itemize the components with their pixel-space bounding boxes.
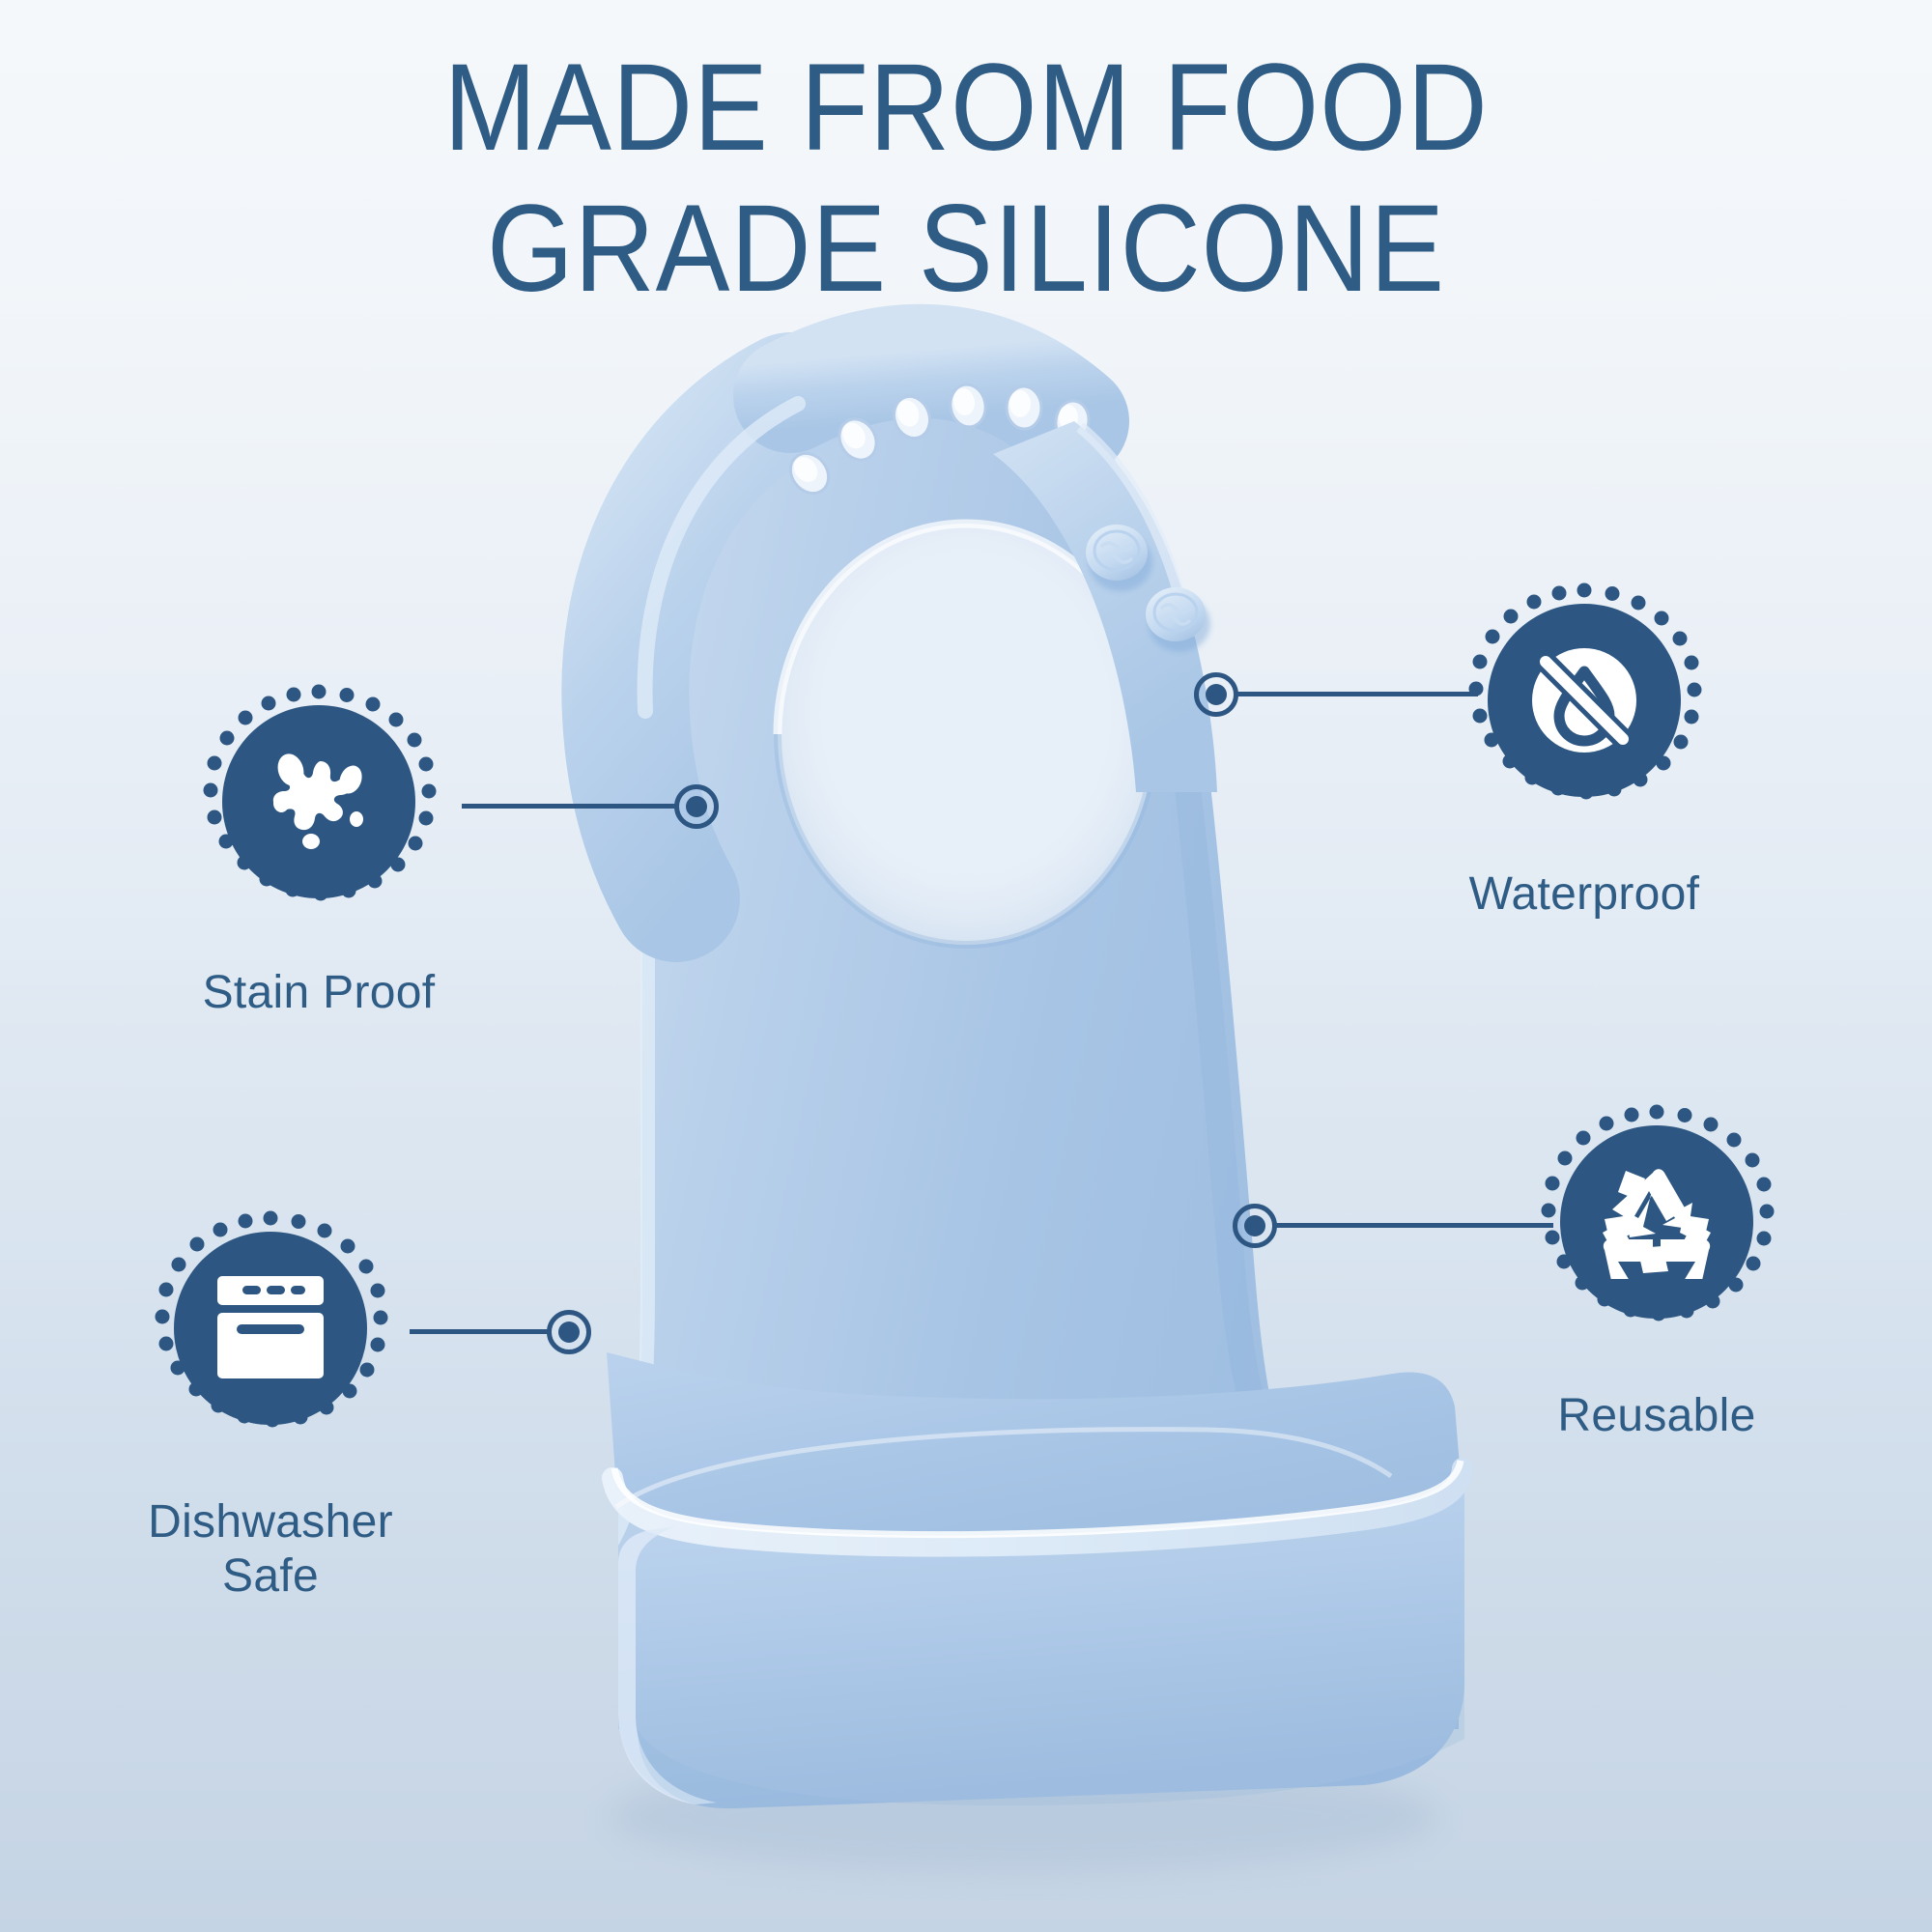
snap-button-lower	[1146, 587, 1210, 652]
feature-badge-reusable[interactable]	[1536, 1101, 1777, 1343]
pocket-rim-highlight	[614, 1461, 1461, 1535]
feature-label-line-2: Safe	[222, 1550, 319, 1602]
feature-badge-waterproof[interactable]	[1463, 580, 1705, 821]
product-ground-shadow	[609, 1760, 1439, 1872]
feature-badge-dishwasher-safe[interactable]	[150, 1207, 391, 1449]
feature-label-stain-proof: Stain Proof	[97, 966, 541, 1020]
leader-line-dishwasher-safe	[410, 1329, 549, 1334]
pocket-bottom-shade	[638, 1683, 1464, 1808]
page-title: MADE FROM FOOD GRADE SILICONE	[97, 46, 1835, 311]
water-droplet-no-icon	[1488, 604, 1681, 797]
feature-label-waterproof: Waterproof	[1362, 867, 1806, 922]
bib-panel	[618, 333, 1459, 1729]
pocket-inner-surface	[607, 1352, 1461, 1547]
bib-body-group	[618, 333, 1459, 1729]
bib-neck-opening	[778, 524, 1154, 945]
pocket-left-edge	[618, 1526, 717, 1804]
bib-shoulder-tab	[993, 421, 1217, 792]
hotspot-marker-reusable[interactable]	[1233, 1204, 1277, 1248]
splat-icon	[222, 705, 415, 898]
leader-line-stain-proof	[462, 804, 676, 809]
feature-label-dishwasher-safe: Dishwasher Safe	[48, 1495, 493, 1604]
bib-catch-pocket	[607, 1352, 1464, 1808]
leader-line-reusable	[1275, 1223, 1553, 1228]
hotspot-marker-stain-proof[interactable]	[674, 784, 719, 829]
hotspot-marker-waterproof[interactable]	[1194, 672, 1238, 717]
pocket-seam	[616, 1430, 1391, 1507]
title-line-2: GRADE SILICONE	[97, 187, 1835, 311]
pocket-rim	[612, 1468, 1463, 1547]
bib-left-highlight	[618, 869, 655, 1546]
dishwasher-icon	[174, 1232, 367, 1425]
strap-adjustment-holes	[782, 382, 1091, 500]
feature-label-line-1: Dishwasher	[148, 1496, 393, 1548]
strap-highlight	[645, 404, 798, 711]
snap-buttons	[1086, 525, 1210, 652]
strap-band-top	[790, 361, 1072, 421]
title-line-1: MADE FROM FOOD	[443, 39, 1488, 177]
feature-label-reusable: Reusable	[1435, 1389, 1879, 1443]
leader-line-waterproof	[1236, 692, 1478, 696]
strap-hole-shadows	[789, 386, 1078, 487]
bib-right-shade	[1163, 676, 1323, 1507]
feature-badge-stain-proof[interactable]	[198, 681, 440, 923]
infographic-canvas: MADE FROM FOOD GRADE SILICONE	[0, 0, 1932, 1932]
recycle-icon	[1560, 1125, 1753, 1319]
snap-button-upper	[1086, 525, 1152, 591]
hotspot-marker-dishwasher-safe[interactable]	[547, 1310, 591, 1354]
pocket-front-face	[618, 1457, 1464, 1808]
